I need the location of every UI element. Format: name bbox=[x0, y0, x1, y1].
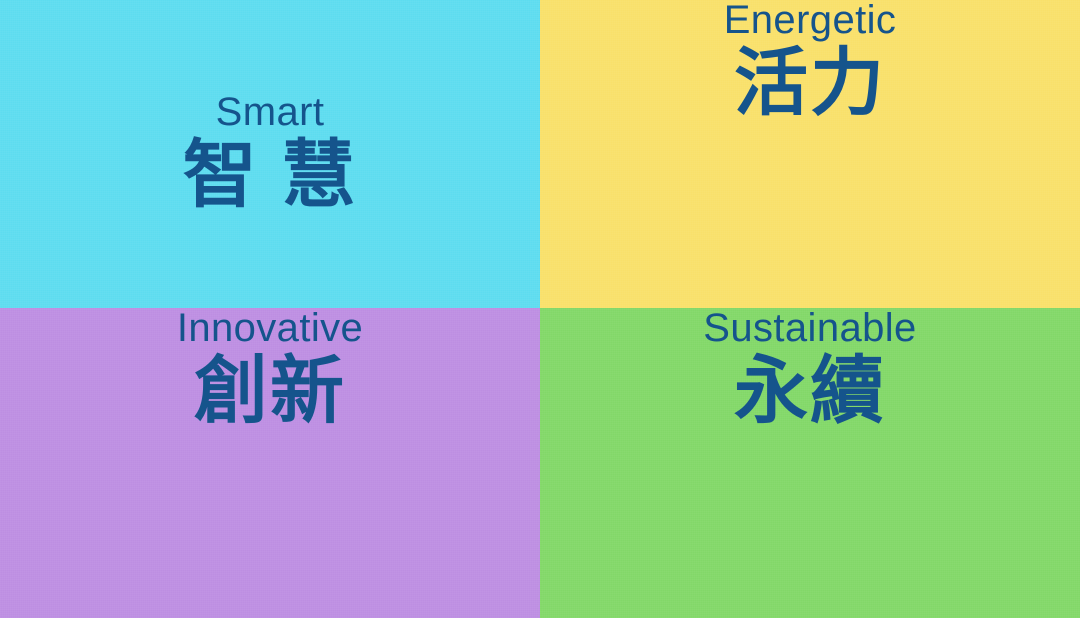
value-card-innovative[interactable]: Innovative 創新 bbox=[0, 308, 540, 618]
value-card-sustainable-content: Sustainable 永續 bbox=[703, 308, 916, 428]
brand-values-board: Smart 智 慧 Energetic 活力 Innovative 創新 Sus… bbox=[0, 0, 1080, 618]
value-label-en-innovative: Innovative bbox=[177, 308, 363, 348]
value-card-smart[interactable]: Smart 智 慧 bbox=[0, 0, 540, 308]
value-label-en-energetic: Energetic bbox=[724, 0, 897, 40]
value-card-innovative-content: Innovative 創新 bbox=[177, 308, 363, 428]
value-label-zh-innovative: 創新 bbox=[194, 354, 346, 428]
value-card-energetic-content: Energetic 活力 bbox=[724, 0, 897, 120]
value-card-smart-content: Smart 智 慧 bbox=[183, 92, 358, 212]
value-label-en-sustainable: Sustainable bbox=[703, 308, 916, 348]
value-card-energetic[interactable]: Energetic 活力 bbox=[540, 0, 1080, 308]
value-label-zh-energetic: 活力 bbox=[734, 46, 886, 120]
values-grid: Smart 智 慧 Energetic 活力 Innovative 創新 Sus… bbox=[0, 0, 1080, 618]
value-label-zh-sustainable: 永續 bbox=[734, 354, 886, 428]
value-label-en-smart: Smart bbox=[216, 92, 325, 132]
value-label-zh-smart: 智 慧 bbox=[183, 138, 358, 212]
value-card-sustainable[interactable]: Sustainable 永續 bbox=[540, 308, 1080, 618]
